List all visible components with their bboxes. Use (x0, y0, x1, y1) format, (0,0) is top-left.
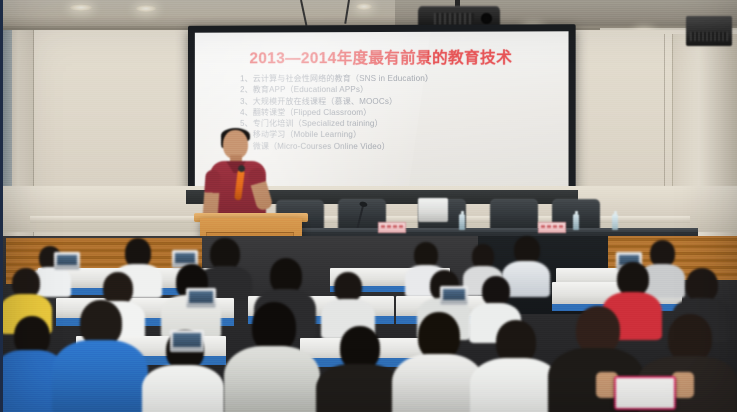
downlight-icon (356, 3, 372, 10)
attendee-laptop (170, 330, 204, 352)
slide-bullet-item: 2、教育APP（Educational APPs） (240, 84, 568, 96)
slide-bullet-item: 7、微课（Micro-Courses Online Video） (240, 141, 568, 153)
projector-vent (434, 13, 474, 25)
slide-bullet-list: 1、云计算与社会性网络的教育（SNS in Education） 2、教育APP… (240, 73, 568, 153)
attendee-laptop (440, 286, 468, 305)
image-left-border (0, 0, 3, 412)
slide-bullet-item: 3、大规模开放在线课程（慕课、MOOCs） (240, 95, 568, 106)
slide-bullet-item: 6、移动学习（Mobile Learning） (240, 129, 568, 141)
downlight-icon (70, 4, 92, 11)
slide-bullet-item: 1、云计算与社会性网络的教育（SNS in Education） (240, 73, 568, 85)
audience-member (52, 300, 148, 412)
wall-speaker-unit-icon (686, 16, 732, 46)
projector-lens (481, 13, 492, 24)
slide-bullet-item: 5、专门化培训（Specialized training） (240, 118, 568, 130)
attendee-laptop (186, 288, 216, 308)
attendee-laptop (54, 252, 80, 270)
presenter-laptop (418, 198, 448, 222)
water-bottle (459, 214, 465, 230)
name-placard (378, 222, 406, 233)
lecture-hall-photo: 2013—2014年度最有前景的教育技术 1、云计算与社会性网络的教育（SNS … (0, 0, 737, 412)
name-placard (538, 222, 566, 233)
water-bottle (573, 214, 579, 230)
slide-title: 2013—2014年度最有前景的教育技术 (203, 45, 561, 68)
audience-member (470, 320, 560, 412)
audience-member (316, 326, 402, 412)
smartphone-icon (614, 376, 676, 410)
audience-member (224, 302, 320, 412)
downlight-icon (136, 5, 156, 12)
slide-bullet-item: 4、翻转课堂（Flipped Classroom） (240, 107, 568, 118)
water-bottle (612, 214, 618, 230)
